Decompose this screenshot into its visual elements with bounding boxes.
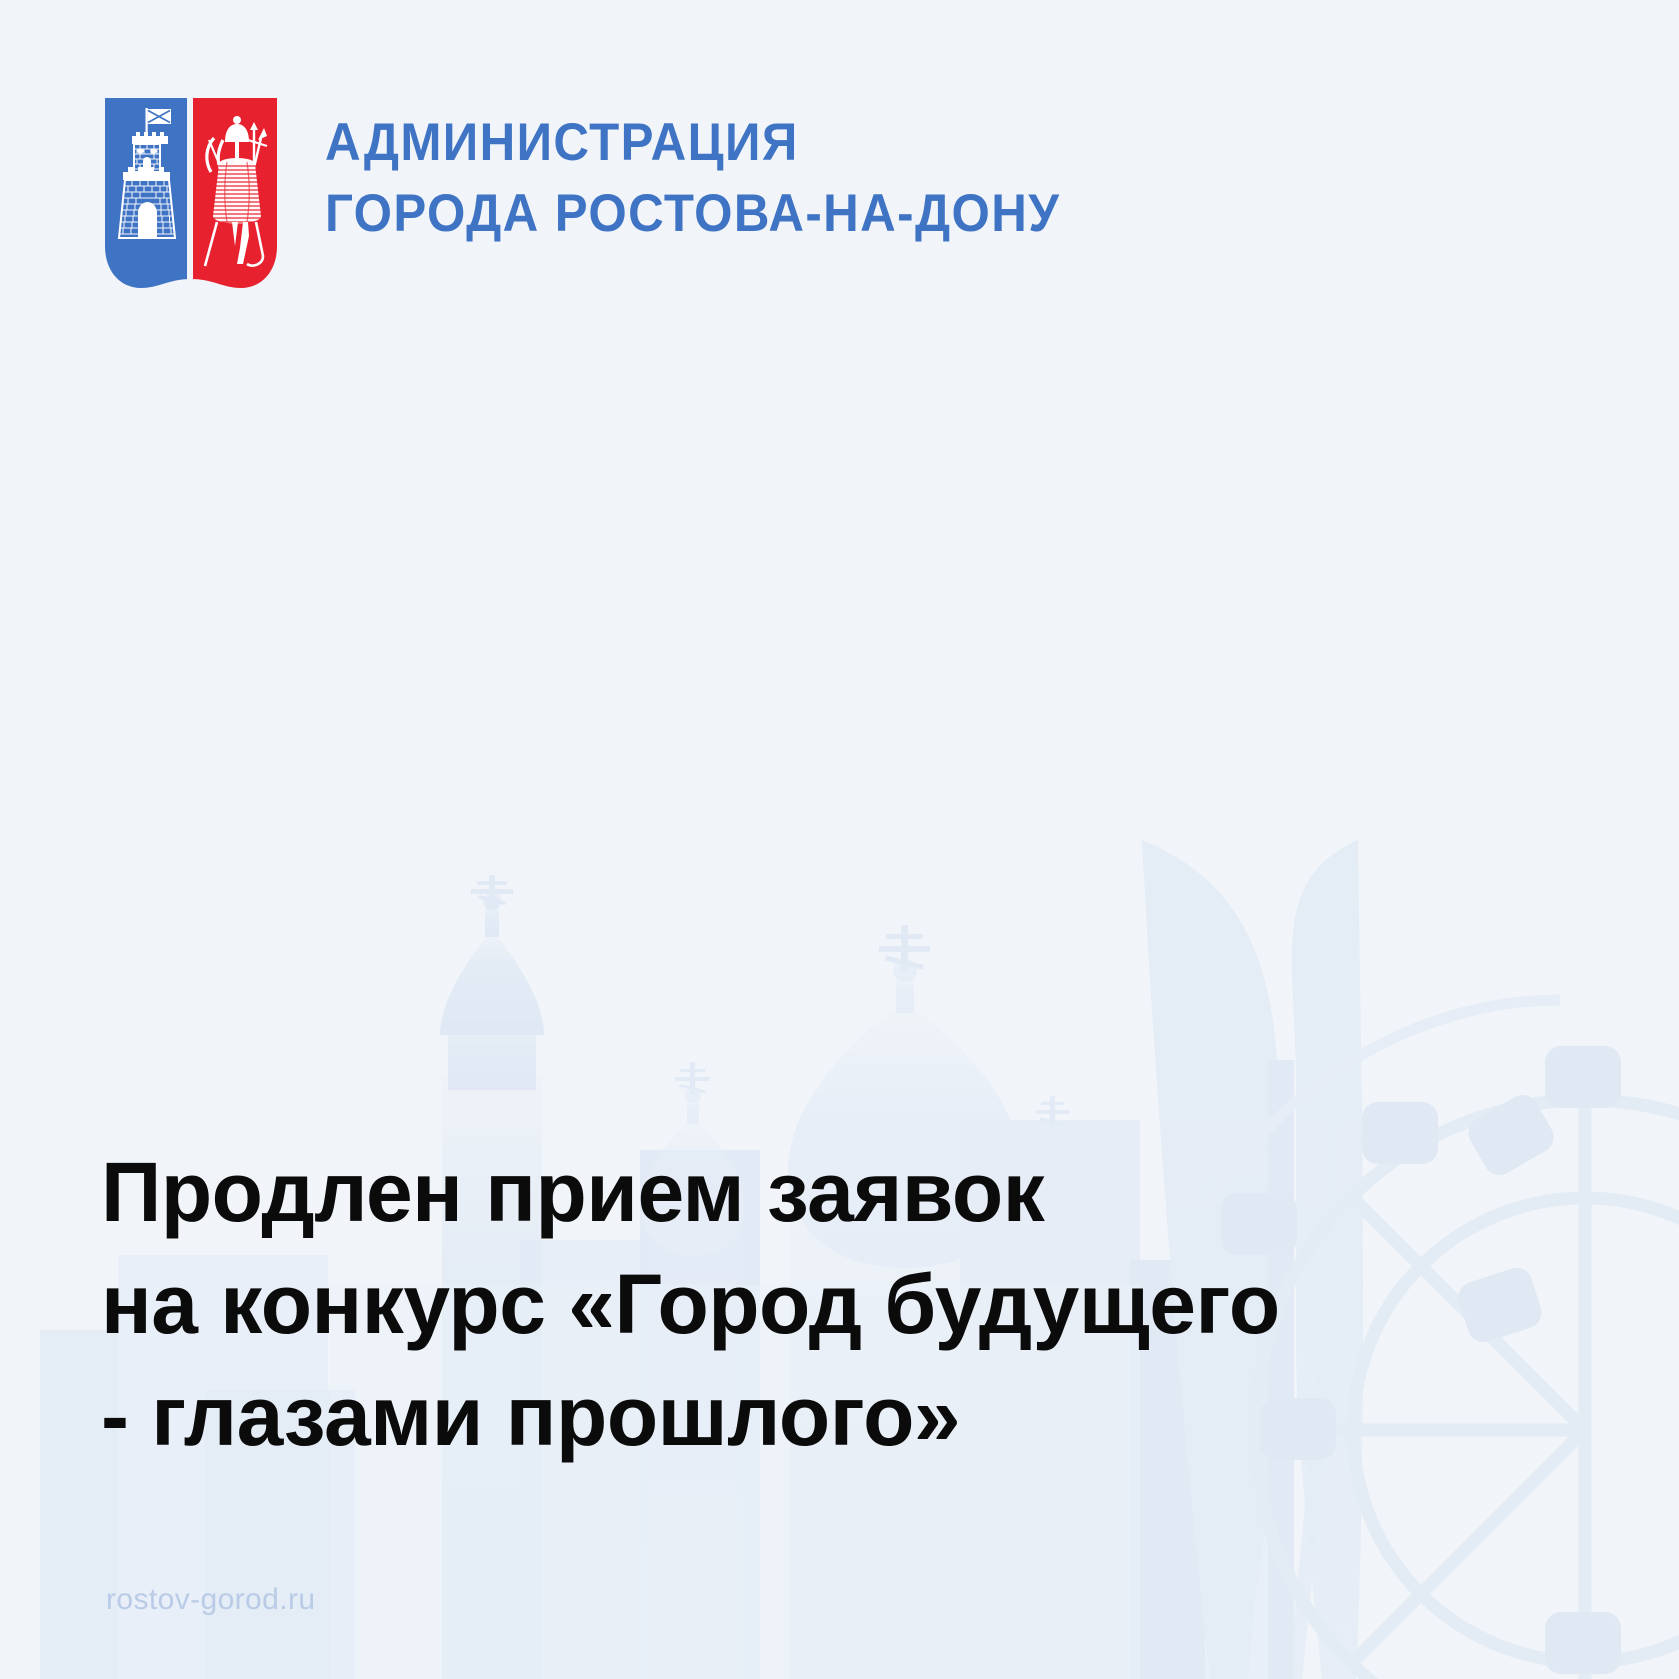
organization-title: АДМИНИСТРАЦИЯ ГОРОДА РОСТОВА-НА-ДОНУ [325, 116, 1116, 258]
headline-line-1: Продлен прием заявок [101, 1136, 1521, 1248]
orthodox-cross-icon [675, 1062, 710, 1094]
org-title-line-2: ГОРОДА РОСТОВА-НА-ДОНУ [325, 187, 1060, 240]
headline: Продлен прием заявок на конкурс «Город б… [101, 1136, 1521, 1472]
headline-line-2: на конкурс «Город будущего [101, 1248, 1521, 1360]
brand-header: АДМИНИСТРАЦИЯ ГОРОДА РОСТОВА-НА-ДОНУ [101, 96, 1116, 296]
orthodox-cross-icon [879, 925, 930, 971]
crest-divider [187, 96, 193, 296]
orthodox-cross-icon [471, 875, 513, 905]
rostov-coat-of-arms-icon [101, 96, 281, 296]
site-url-label: rostov-gorod.ru [106, 1583, 315, 1617]
orthodox-cross-icon [1036, 1096, 1069, 1127]
footer: rostov-gorod.ru [106, 1583, 315, 1617]
headline-line-3: - глазами прошлого» [101, 1360, 1521, 1472]
social-card: АДМИНИСТРАЦИЯ ГОРОДА РОСТОВА-НА-ДОНУ Про… [0, 0, 1679, 1679]
org-title-line-1: АДМИНИСТРАЦИЯ [325, 116, 1060, 169]
crest-left-field [101, 96, 187, 296]
